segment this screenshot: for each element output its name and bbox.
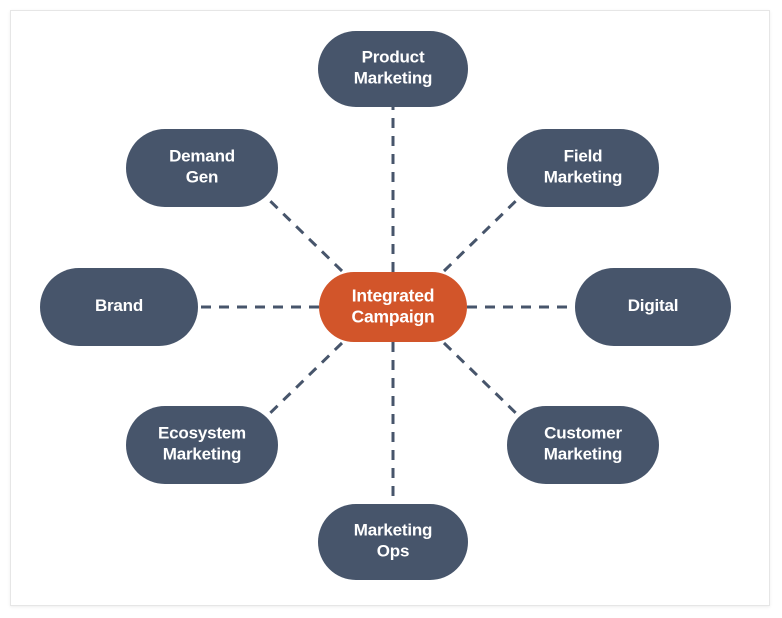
hub-and-spoke-diagram: ProductMarketingFieldMarketingDigitalCus… [0, 0, 782, 618]
connector-integrated-campaign-to-ecosystem-marketing [263, 343, 342, 420]
node-label-line: Integrated [352, 285, 435, 305]
node-label-line: Ecosystem [158, 424, 246, 443]
node-label-digital: Digital [628, 296, 679, 315]
node-label-line: Product [362, 48, 425, 67]
node-ecosystem-marketing[interactable]: EcosystemMarketing [126, 406, 278, 484]
node-label-brand: Brand [95, 296, 143, 315]
node-digital[interactable]: Digital [575, 268, 731, 346]
connector-integrated-campaign-to-customer-marketing [444, 343, 523, 420]
node-label-integrated-campaign: IntegratedCampaign [352, 285, 435, 326]
node-label-line: Field [564, 147, 603, 166]
connector-integrated-campaign-to-field-marketing [444, 194, 523, 271]
node-label-line: Marketing [163, 445, 242, 464]
node-product-marketing[interactable]: ProductMarketing [318, 31, 468, 107]
node-label-line: Marketing [354, 69, 433, 88]
connector-integrated-campaign-to-demand-gen [263, 194, 342, 271]
node-customer-marketing[interactable]: CustomerMarketing [507, 406, 659, 484]
node-label-line: Digital [628, 296, 679, 315]
node-field-marketing[interactable]: FieldMarketing [507, 129, 659, 207]
node-label-line: Brand [95, 296, 143, 315]
node-demand-gen[interactable]: DemandGen [126, 129, 278, 207]
node-marketing-ops[interactable]: MarketingOps [318, 504, 468, 580]
node-label-line: Gen [186, 168, 218, 187]
node-label-line: Demand [169, 147, 235, 166]
node-brand[interactable]: Brand [40, 268, 198, 346]
node-label-line: Marketing [544, 445, 623, 464]
node-label-line: Customer [544, 424, 622, 443]
node-integrated-campaign[interactable]: IntegratedCampaign [319, 272, 467, 342]
node-label-line: Campaign [352, 306, 435, 326]
nodes-group: ProductMarketingFieldMarketingDigitalCus… [40, 31, 731, 580]
node-label-line: Ops [377, 542, 409, 561]
node-label-line: Marketing [354, 521, 433, 540]
diagram-canvas: ProductMarketingFieldMarketingDigitalCus… [0, 0, 782, 618]
node-label-line: Marketing [544, 168, 623, 187]
